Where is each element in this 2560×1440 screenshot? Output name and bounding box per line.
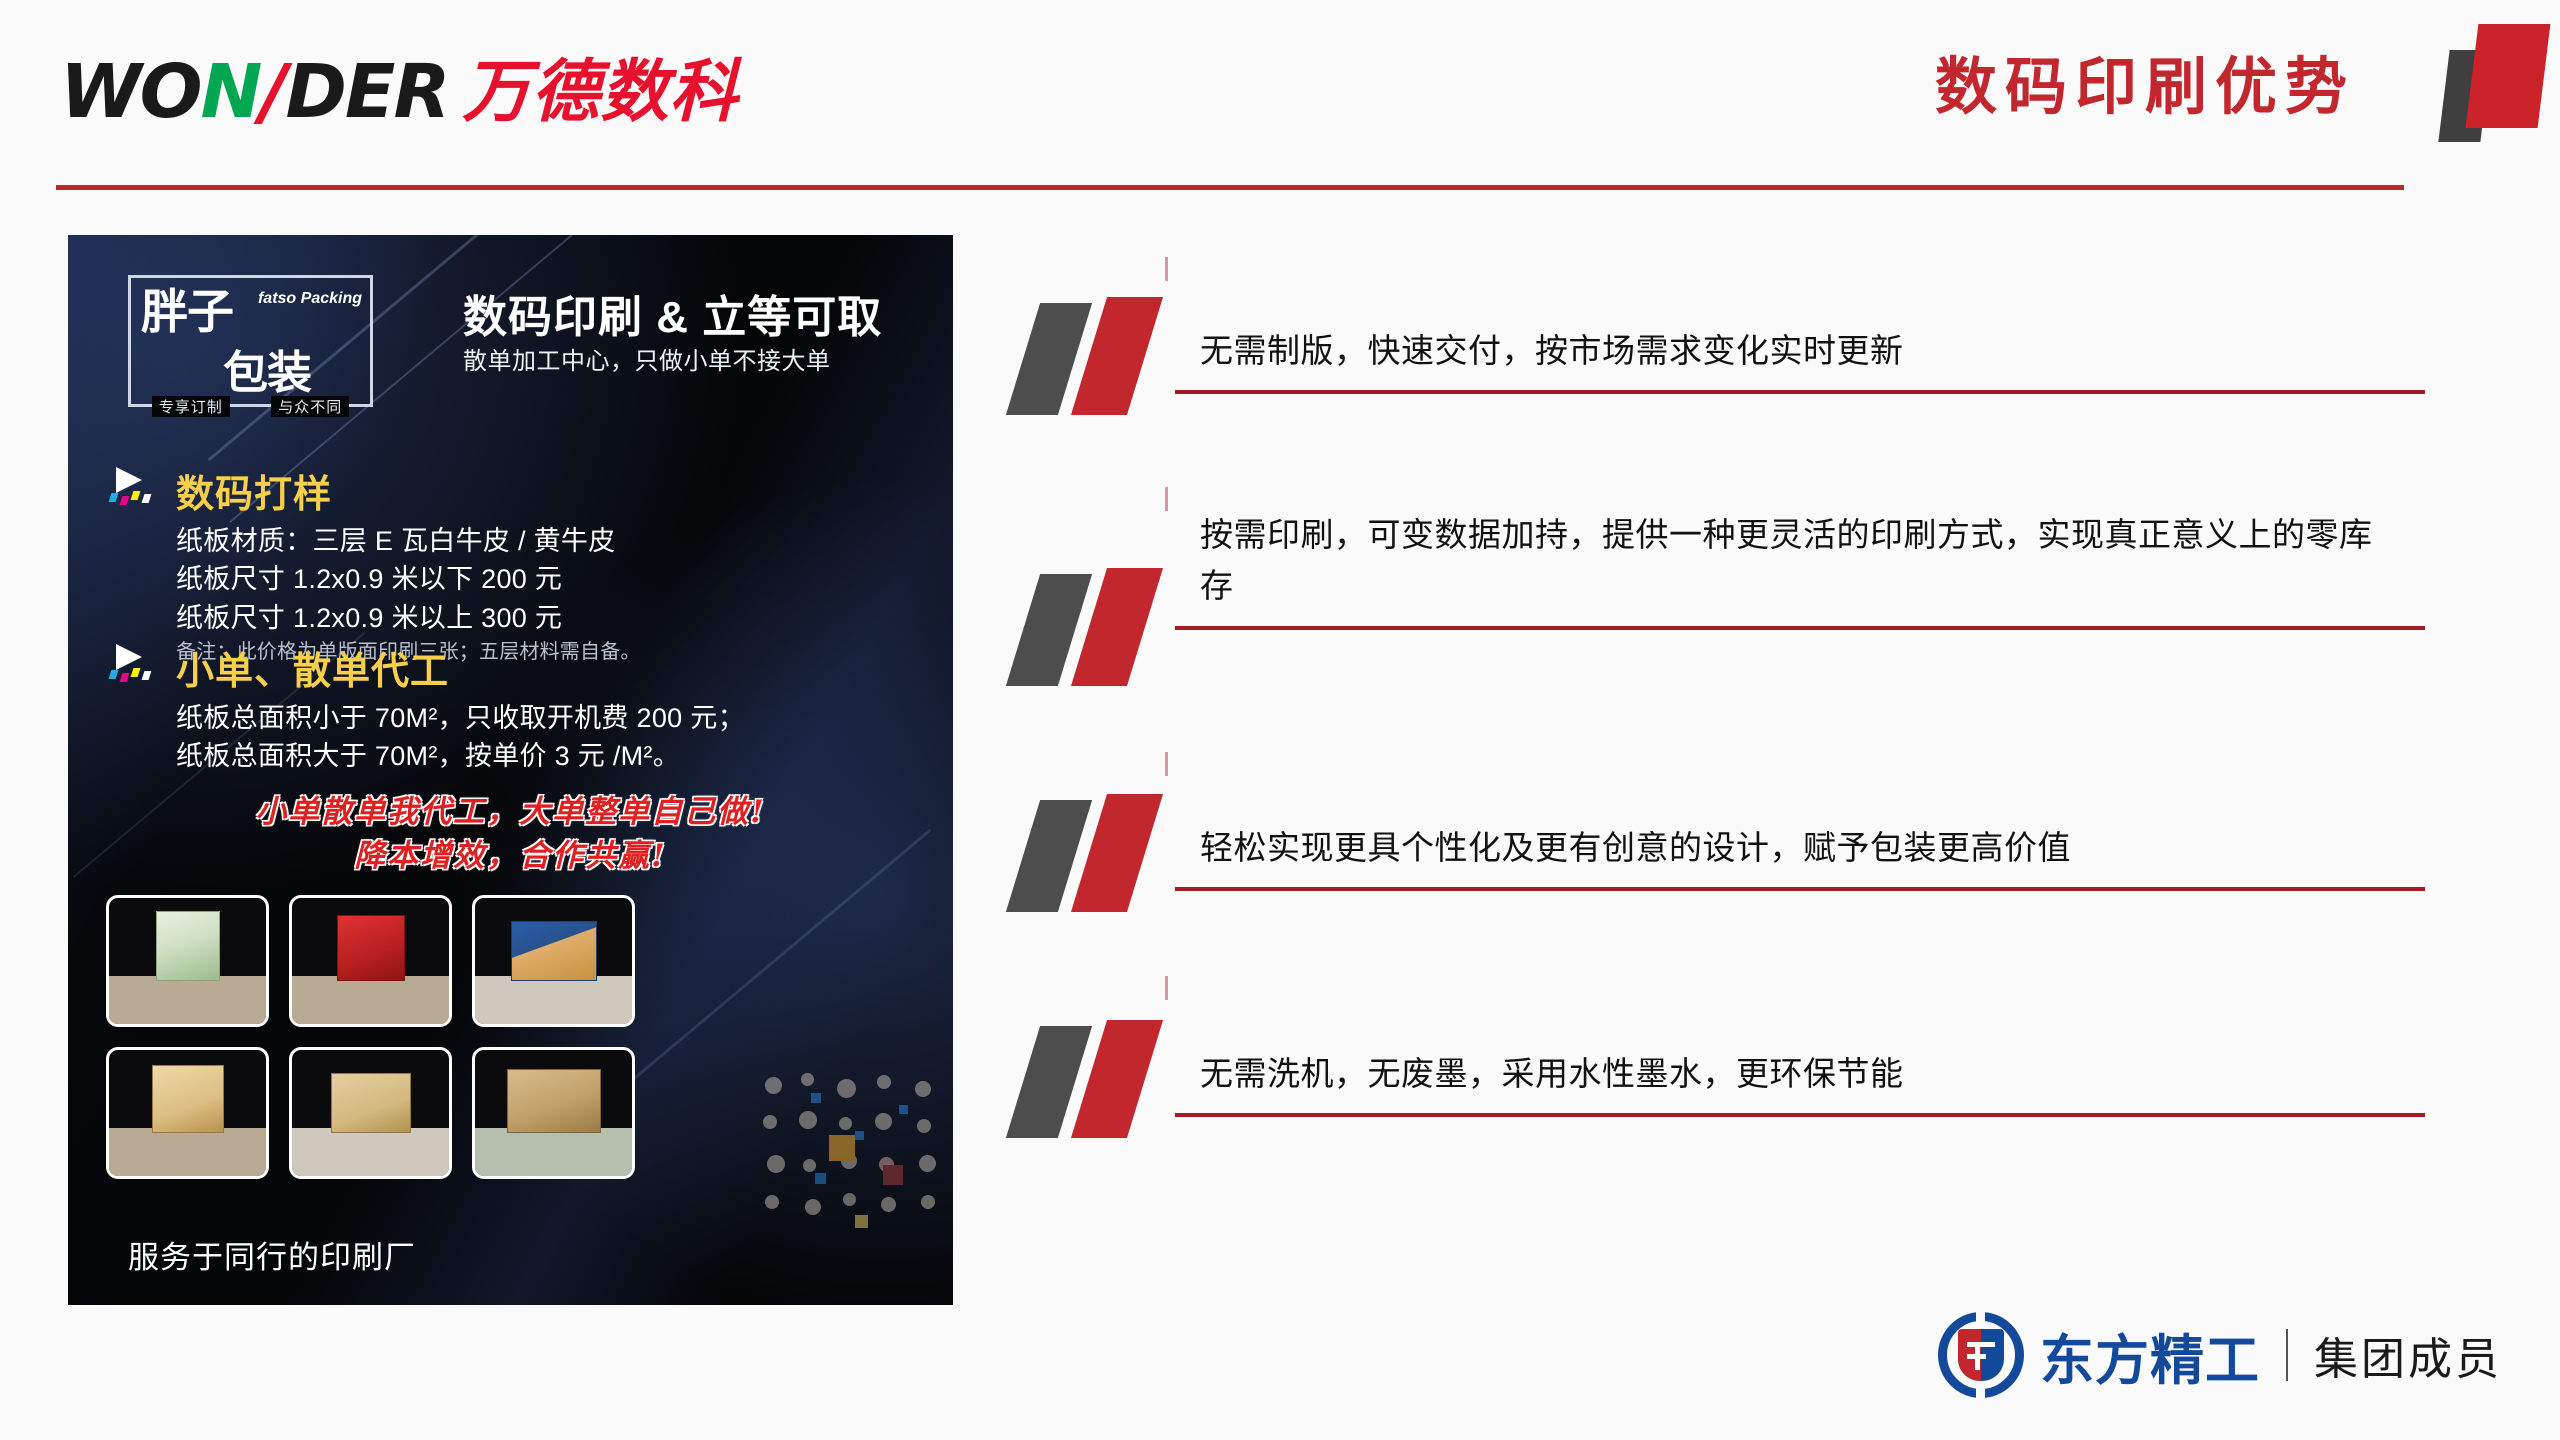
corner-red-shape xyxy=(2466,24,2551,128)
slogan-line-1: 小单散单我代工，大单整单自己做! xyxy=(68,790,953,834)
corner-decoration-icon xyxy=(2422,6,2542,146)
section-line: 纸板总面积小于 70M²，只收取开机费 200 元； xyxy=(176,699,745,737)
wordmark-part-1: WO xyxy=(60,55,201,129)
photo-floor xyxy=(475,1128,632,1176)
poster-logo-taglines: 专享订制 与众不同 xyxy=(131,396,370,417)
section-line: 纸板尺寸 1.2x0.9 米以下 200 元 xyxy=(176,560,641,598)
arrow-dot-cyan xyxy=(109,670,119,679)
product-box xyxy=(156,911,220,981)
section-line: 纸板尺寸 1.2x0.9 米以上 300 元 xyxy=(176,599,641,637)
section-line: 纸板材质：三层 E 瓦白牛皮 / 黄牛皮 xyxy=(176,522,641,560)
arrow-bullet-icon xyxy=(110,644,162,688)
poster-logo-english: fatso Packing xyxy=(258,290,362,308)
company-logo: WON/DER 万德数科 xyxy=(60,52,738,132)
list-item-underline xyxy=(1175,1113,2425,1117)
arrow-head-shape xyxy=(116,467,142,493)
poster-tagline-left: 专享订制 xyxy=(152,396,230,417)
arrow-dot-magenta xyxy=(120,673,130,682)
poster-slogan: 小单散单我代工，大单整单自己做! 降本增效，合作共赢! xyxy=(68,790,953,878)
poster-subheadline: 散单加工中心，只做小单不接大单 xyxy=(463,341,831,376)
product-box xyxy=(331,1073,411,1133)
footer-divider xyxy=(2286,1329,2288,1381)
wordmark-n-red: / xyxy=(260,55,285,129)
group-company-name: 东方精工 xyxy=(2040,1316,2260,1395)
list-item[interactable]: 轻松实现更具个性化及更有创意的设计，赋予包装更高价值 xyxy=(1015,762,2415,912)
text-caret xyxy=(1165,487,1168,511)
photo-floor xyxy=(475,976,632,1024)
product-photo xyxy=(106,895,269,1027)
section-title: 小单、散单代工 xyxy=(176,640,745,695)
product-photo xyxy=(289,1047,452,1179)
photo-floor xyxy=(292,1128,449,1176)
poster-logo-second-text: 包装 xyxy=(223,336,311,401)
photo-floor xyxy=(292,976,449,1024)
wonder-wordmark: WON/DER xyxy=(60,55,448,129)
header-divider xyxy=(56,185,2404,190)
page-title: 数码印刷优势 xyxy=(1935,36,2355,126)
product-box xyxy=(152,1065,224,1133)
poster-headline: 数码印刷 & 立等可取 xyxy=(463,281,882,345)
photo-floor xyxy=(109,1128,266,1176)
list-item-underline xyxy=(1175,390,2425,394)
text-caret xyxy=(1165,976,1168,1000)
list-item[interactable]: 按需印刷，可变数据加持，提供一种更灵活的印刷方式，实现真正意义上的零库存 xyxy=(1015,491,2415,686)
poster-section-proofing: 数码打样 纸板材质：三层 E 瓦白牛皮 / 黄牛皮 纸板尺寸 1.2x0.9 米… xyxy=(140,463,641,667)
product-photo xyxy=(106,1047,269,1179)
group-footer: 东方精工 集团成员 xyxy=(1938,1312,2502,1398)
product-photo xyxy=(472,895,635,1027)
list-item[interactable]: 无需洗机，无废墨，采用水性墨水，更环保节能 xyxy=(1015,988,2415,1138)
list-item-underline xyxy=(1175,626,2425,630)
product-box xyxy=(511,921,597,981)
wordmark-n-green: N xyxy=(201,55,261,129)
bullet-marker-icon xyxy=(1015,561,1175,686)
slogan-line-2: 降本增效，合作共赢! xyxy=(68,834,953,878)
shield-mark xyxy=(1975,1342,1980,1370)
list-item-text: 轻松实现更具个性化及更有创意的设计，赋予包装更高价值 xyxy=(1200,762,2415,887)
slide-root: WON/DER 万德数科 数码印刷优势 胖子 fatso Packing 包装 … xyxy=(0,0,2560,1440)
section-line: 纸板总面积大于 70M²，按单价 3 元 /M²。 xyxy=(176,737,745,775)
list-item[interactable]: 无需制版，快速交付，按市场需求变化实时更新 xyxy=(1015,265,2415,415)
poster-footer-text: 服务于同行的印刷厂 xyxy=(128,1232,416,1277)
arrow-dot-yellow xyxy=(131,491,141,500)
poster-tagline-right: 与众不同 xyxy=(271,396,349,417)
arrow-dot-yellow xyxy=(131,668,141,677)
promo-poster-image: 胖子 fatso Packing 包装 专享订制 与众不同 数码印刷 & 立等可… xyxy=(68,235,953,1305)
brand-chinese-name: 万德数科 xyxy=(462,58,738,126)
halftone-dot-decoration xyxy=(759,1069,953,1259)
product-box xyxy=(337,915,405,981)
arrow-dot-white xyxy=(142,494,152,503)
arrow-dot-white xyxy=(142,671,152,680)
bullet-marker-icon xyxy=(1015,1020,1175,1138)
shield-mark xyxy=(1967,1342,1995,1347)
section-title: 数码打样 xyxy=(176,463,641,518)
product-photo xyxy=(289,895,452,1027)
dongfang-logo-icon xyxy=(1938,1312,2024,1398)
text-caret xyxy=(1165,257,1168,281)
product-box xyxy=(507,1069,601,1133)
arrow-head-shape xyxy=(116,644,142,670)
group-member-label: 集团成员 xyxy=(2314,1323,2502,1387)
poster-section-small-orders: 小单、散单代工 纸板总面积小于 70M²，只收取开机费 200 元； 纸板总面积… xyxy=(140,640,745,776)
product-photo xyxy=(472,1047,635,1179)
list-item-text: 无需制版，快速交付，按市场需求变化实时更新 xyxy=(1200,265,2415,390)
photo-floor xyxy=(109,976,266,1024)
list-item-text: 无需洗机，无废墨，采用水性墨水，更环保节能 xyxy=(1200,988,2415,1113)
poster-logo: 胖子 fatso Packing 包装 专享订制 与众不同 xyxy=(128,275,373,407)
poster-logo-main-text: 胖子 xyxy=(141,288,233,336)
arrow-bullet-icon xyxy=(110,467,162,511)
wordmark-part-2: DER xyxy=(286,55,449,129)
text-caret xyxy=(1165,752,1168,776)
advantage-list: 无需制版，快速交付，按市场需求变化实时更新 按需印刷，可变数据加持，提供一种更灵… xyxy=(1015,265,2415,1214)
list-item-underline xyxy=(1175,887,2425,891)
arrow-dot-cyan xyxy=(109,493,119,502)
list-item-text: 按需印刷，可变数据加持，提供一种更灵活的印刷方式，实现真正意义上的零库存 xyxy=(1200,491,2400,626)
bullet-marker-icon xyxy=(1015,297,1175,415)
photo-row xyxy=(106,895,916,1027)
arrow-dot-magenta xyxy=(120,496,130,505)
bullet-marker-icon xyxy=(1015,794,1175,912)
logo-shield xyxy=(1958,1329,2004,1381)
